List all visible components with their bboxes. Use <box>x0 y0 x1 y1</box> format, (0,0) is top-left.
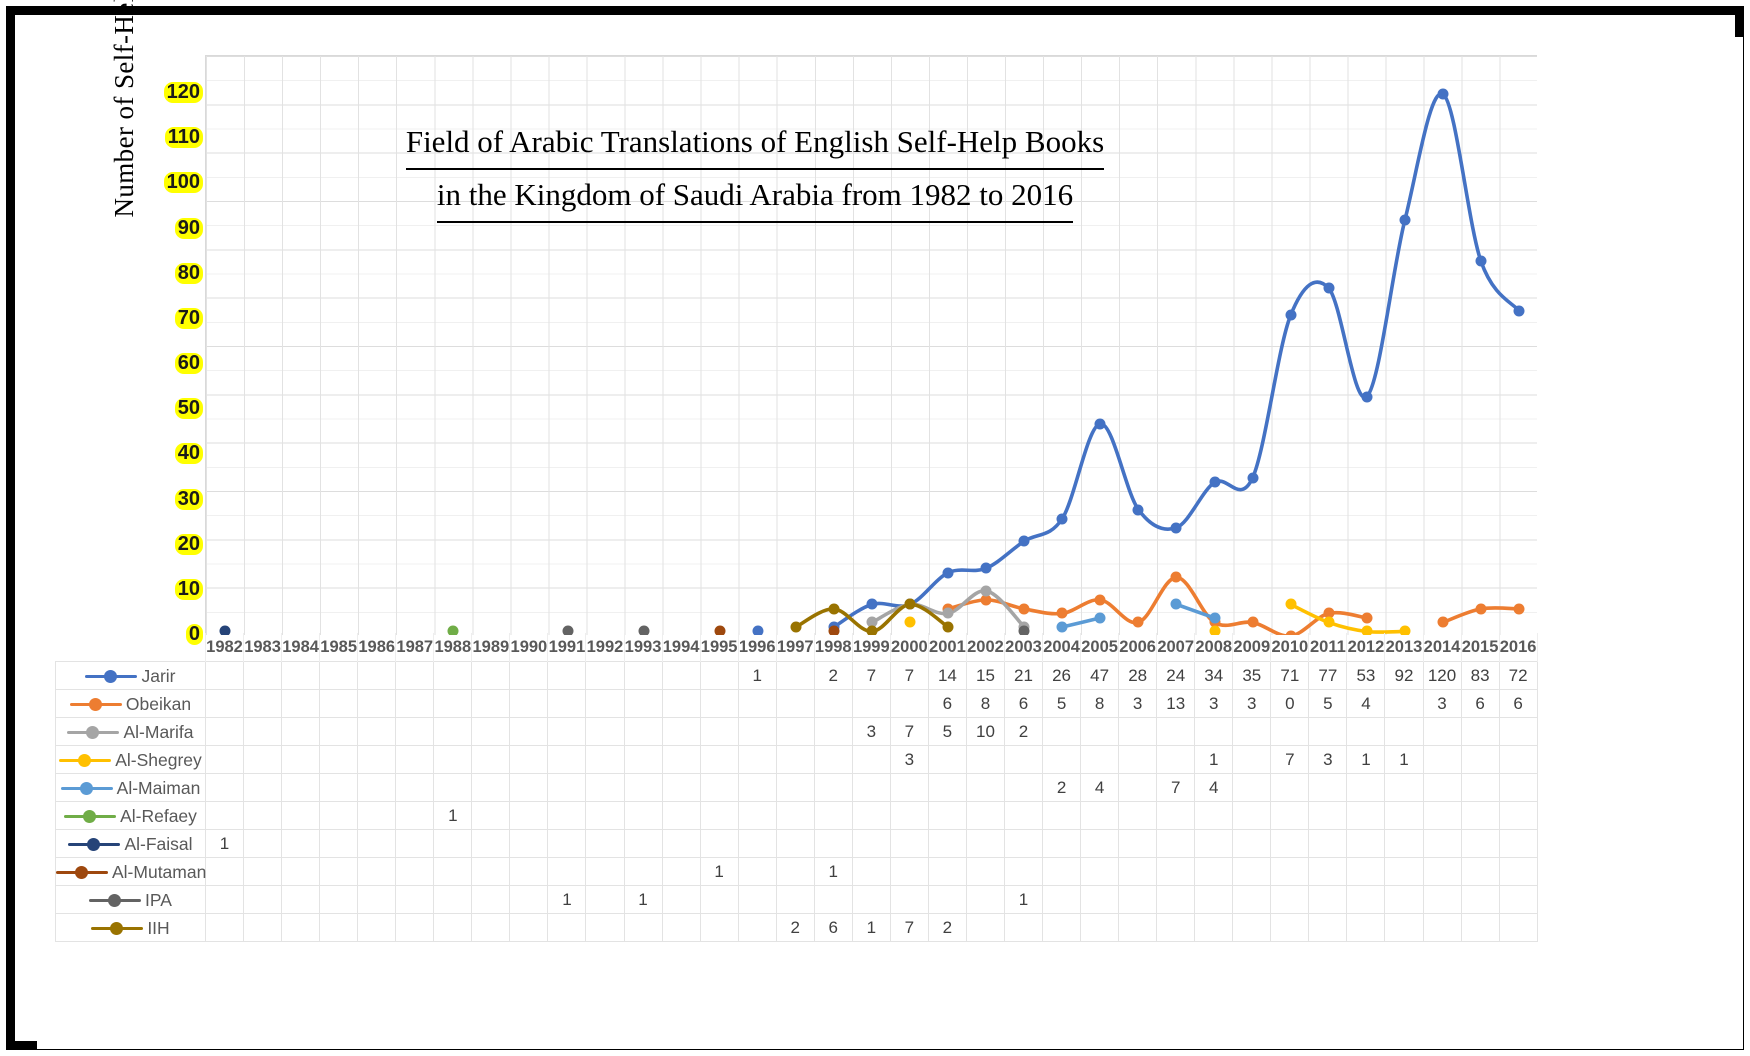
y-tick-40: 40 <box>175 443 203 464</box>
cell-ipa-1987 <box>396 886 434 914</box>
cell-al-marifa-2015 <box>1461 718 1499 746</box>
cell-obeikan-1989 <box>472 690 510 718</box>
cell-al-marifa-1998 <box>814 718 852 746</box>
y-tick-60: 60 <box>175 353 203 374</box>
legend-label: Al-Marifa <box>123 721 193 741</box>
cell-al-marifa-1995 <box>700 718 738 746</box>
point-jarir-2016 <box>1513 305 1524 316</box>
cell-al-mutaman-2016 <box>1499 858 1537 886</box>
year-header-2015: 2015 <box>1461 633 1499 662</box>
cell-iih-1993 <box>624 914 662 942</box>
cell-ipa-1996 <box>738 886 776 914</box>
y-tick-110: 110 <box>165 127 203 148</box>
cell-obeikan-2001: 6 <box>928 690 966 718</box>
cell-al-marifa-2012 <box>1347 718 1385 746</box>
cell-iih-2006 <box>1119 914 1157 942</box>
cell-al-refaey-2013 <box>1385 802 1423 830</box>
legend-item-obeikan[interactable]: Obeikan <box>56 690 206 718</box>
legend-label: Al-Shegrey <box>115 749 202 769</box>
cell-al-shegrey-1995 <box>700 746 738 774</box>
cell-jarir-1982 <box>206 662 244 690</box>
legend-item-al-maiman[interactable]: Al-Maiman <box>56 774 206 802</box>
point-al-marifa-2001 <box>943 608 954 619</box>
cell-al-refaey-1989 <box>472 802 510 830</box>
cell-al-faisal-1990 <box>510 830 548 858</box>
cell-iih-1998: 6 <box>814 914 852 942</box>
cell-al-mutaman-1990 <box>510 858 548 886</box>
cell-al-refaey-1983 <box>244 802 282 830</box>
cell-jarir-1995 <box>700 662 738 690</box>
cell-al-marifa-1985 <box>320 718 358 746</box>
cell-jarir-2003: 21 <box>1004 662 1042 690</box>
cell-al-marifa-2006 <box>1119 718 1157 746</box>
table-row: Al-Maiman2474 <box>56 774 1538 802</box>
cell-al-faisal-2008 <box>1195 830 1233 858</box>
cell-al-shegrey-2008: 1 <box>1195 746 1233 774</box>
point-iih-1997 <box>790 621 801 632</box>
legend-item-al-refaey[interactable]: Al-Refaey <box>56 802 206 830</box>
legend-item-al-mutaman[interactable]: Al-Mutaman <box>56 858 206 886</box>
legend-item-ipa[interactable]: IPA <box>56 886 206 914</box>
cell-obeikan-2005: 8 <box>1081 690 1119 718</box>
y-tick-120: 120 <box>164 82 203 103</box>
cell-al-shegrey-1989 <box>472 746 510 774</box>
cell-al-maiman-2015 <box>1461 774 1499 802</box>
cell-al-refaey-1991 <box>548 802 586 830</box>
cell-al-marifa-2008 <box>1195 718 1233 746</box>
cell-al-shegrey-2003 <box>1004 746 1042 774</box>
cell-ipa-2016 <box>1499 886 1537 914</box>
point-jarir-2012 <box>1361 391 1372 402</box>
cell-al-mutaman-1996 <box>738 858 776 886</box>
cell-al-mutaman-1982 <box>206 858 244 886</box>
cell-obeikan-2016: 6 <box>1499 690 1537 718</box>
cell-obeikan-1985 <box>320 690 358 718</box>
cell-iih-2013 <box>1385 914 1423 942</box>
cell-iih-1986 <box>358 914 396 942</box>
point-obeikan-2007 <box>1171 572 1182 583</box>
cell-iih-1982 <box>206 914 244 942</box>
year-header-2009: 2009 <box>1233 633 1271 662</box>
cell-al-shegrey-2001 <box>928 746 966 774</box>
cell-al-faisal-2012 <box>1347 830 1385 858</box>
cell-jarir-1999: 7 <box>852 662 890 690</box>
year-header-1998: 1998 <box>814 633 852 662</box>
cell-al-refaey-1993 <box>624 802 662 830</box>
cell-al-mutaman-1998: 1 <box>814 858 852 886</box>
legend-item-iih[interactable]: IIH <box>56 914 206 942</box>
cell-jarir-2001: 14 <box>928 662 966 690</box>
year-header-1996: 1996 <box>738 633 776 662</box>
cell-jarir-1984 <box>282 662 320 690</box>
cell-al-mutaman-2015 <box>1461 858 1499 886</box>
cell-al-faisal-1984 <box>282 830 320 858</box>
y-tick-10: 10 <box>175 579 203 600</box>
cell-al-maiman-1990 <box>510 774 548 802</box>
cell-al-maiman-2006 <box>1119 774 1157 802</box>
cell-al-refaey-2004 <box>1043 802 1081 830</box>
cell-ipa-1993: 1 <box>624 886 662 914</box>
legend-label: Al-Maiman <box>117 777 201 797</box>
cell-al-faisal-1986 <box>358 830 396 858</box>
cell-al-refaey-2002 <box>966 802 1004 830</box>
cell-jarir-1996: 1 <box>738 662 776 690</box>
table-row: Al-Mutaman11 <box>56 858 1538 886</box>
cell-al-refaey-1998 <box>814 802 852 830</box>
cell-obeikan-1990 <box>510 690 548 718</box>
cell-iih-1994 <box>662 914 700 942</box>
cell-iih-2009 <box>1233 914 1271 942</box>
cell-jarir-2000: 7 <box>890 662 928 690</box>
cell-al-faisal-2002 <box>966 830 1004 858</box>
cell-al-shegrey-2016 <box>1499 746 1537 774</box>
cell-al-faisal-1985 <box>320 830 358 858</box>
cell-al-shegrey-1982 <box>206 746 244 774</box>
cell-ipa-1991: 1 <box>548 886 586 914</box>
cell-al-maiman-2009 <box>1233 774 1271 802</box>
point-obeikan-2012 <box>1361 612 1372 623</box>
cell-obeikan-1992 <box>586 690 624 718</box>
legend-marker-icon <box>64 809 116 823</box>
point-jarir-2005 <box>1095 418 1106 429</box>
cell-ipa-1998 <box>814 886 852 914</box>
cell-al-shegrey-1985 <box>320 746 358 774</box>
legend-marker-icon <box>91 921 143 935</box>
legend-label: Obeikan <box>126 693 191 713</box>
cell-ipa-1984 <box>282 886 320 914</box>
cell-al-maiman-1998 <box>814 774 852 802</box>
cell-al-mutaman-1999 <box>852 858 890 886</box>
cell-ipa-2009 <box>1233 886 1271 914</box>
cell-iih-1988 <box>434 914 472 942</box>
cell-al-marifa-2009 <box>1233 718 1271 746</box>
year-header-2001: 2001 <box>928 633 966 662</box>
cell-al-mutaman-2006 <box>1119 858 1157 886</box>
legend-marker-icon <box>89 893 141 907</box>
table-row: IIH26172 <box>56 914 1538 942</box>
cell-al-marifa-2011 <box>1309 718 1347 746</box>
cell-al-mutaman-2003 <box>1004 858 1042 886</box>
legend-label: Al-Refaey <box>120 805 197 825</box>
cell-ipa-1994 <box>662 886 700 914</box>
cell-al-maiman-2003 <box>1004 774 1042 802</box>
cell-al-marifa-2002: 10 <box>966 718 1004 746</box>
cell-al-shegrey-2006 <box>1119 746 1157 774</box>
cell-al-refaey-2008 <box>1195 802 1233 830</box>
cell-al-shegrey-2004 <box>1043 746 1081 774</box>
cell-al-mutaman-2000 <box>890 858 928 886</box>
cell-al-refaey-1982 <box>206 802 244 830</box>
cell-al-mutaman-2009 <box>1233 858 1271 886</box>
cell-jarir-1998: 2 <box>814 662 852 690</box>
point-al-maiman-2005 <box>1095 612 1106 623</box>
cell-obeikan-2000 <box>890 690 928 718</box>
year-header-1984: 1984 <box>282 633 320 662</box>
cell-al-mutaman-1994 <box>662 858 700 886</box>
year-header-2008: 2008 <box>1195 633 1233 662</box>
legend-data-table: 1982198319841985198619871988198919901991… <box>55 633 1537 942</box>
cell-al-refaey-2009 <box>1233 802 1271 830</box>
cell-al-shegrey-2012: 1 <box>1347 746 1385 774</box>
cell-iih-2011 <box>1309 914 1347 942</box>
table-row: Al-Faisal1 <box>56 830 1538 858</box>
cell-ipa-2001 <box>928 886 966 914</box>
point-al-shegrey-2011 <box>1323 617 1334 628</box>
point-jarir-2009 <box>1247 472 1258 483</box>
cell-al-refaey-2014 <box>1423 802 1461 830</box>
cell-al-maiman-2007: 7 <box>1157 774 1195 802</box>
cell-iih-1992 <box>586 914 624 942</box>
cell-ipa-1986 <box>358 886 396 914</box>
legend-item-al-marifa[interactable]: Al-Marifa <box>56 718 206 746</box>
cell-iih-2012 <box>1347 914 1385 942</box>
point-obeikan-2004 <box>1057 608 1068 619</box>
cell-jarir-1988 <box>434 662 472 690</box>
point-iih-1998 <box>828 603 839 614</box>
cell-iih-2004 <box>1043 914 1081 942</box>
cell-al-refaey-2010 <box>1271 802 1309 830</box>
cell-al-refaey-1996 <box>738 802 776 830</box>
cell-al-faisal-1988 <box>434 830 472 858</box>
year-header-1991: 1991 <box>548 633 586 662</box>
year-header-1999: 1999 <box>852 633 890 662</box>
y-tick-100: 100 <box>164 172 203 193</box>
cell-iih-1989 <box>472 914 510 942</box>
cell-obeikan-2003: 6 <box>1004 690 1042 718</box>
cell-al-maiman-2001 <box>928 774 966 802</box>
point-al-maiman-2008 <box>1209 612 1220 623</box>
cell-al-faisal-2016 <box>1499 830 1537 858</box>
cell-al-mutaman-2011 <box>1309 858 1347 886</box>
cell-al-faisal-1994 <box>662 830 700 858</box>
year-header-2002: 2002 <box>966 633 1004 662</box>
cell-al-marifa-1982 <box>206 718 244 746</box>
cell-al-refaey-2015 <box>1461 802 1499 830</box>
cell-iih-1997: 2 <box>776 914 814 942</box>
cell-al-maiman-1999 <box>852 774 890 802</box>
legend-marker-icon <box>59 753 111 767</box>
cell-al-shegrey-1992 <box>586 746 624 774</box>
cell-ipa-1990 <box>510 886 548 914</box>
cell-al-marifa-1997 <box>776 718 814 746</box>
cell-al-refaey-2007 <box>1157 802 1195 830</box>
point-al-shegrey-2000 <box>905 617 916 628</box>
point-obeikan-2016 <box>1513 603 1524 614</box>
cell-al-shegrey-1983 <box>244 746 282 774</box>
cell-iih-2001: 2 <box>928 914 966 942</box>
cell-jarir-2005: 47 <box>1081 662 1119 690</box>
cell-al-shegrey-1993 <box>624 746 662 774</box>
cell-al-maiman-1988 <box>434 774 472 802</box>
cell-obeikan-1983 <box>244 690 282 718</box>
cell-iih-1990 <box>510 914 548 942</box>
cell-ipa-2008 <box>1195 886 1233 914</box>
cell-ipa-2004 <box>1043 886 1081 914</box>
cell-al-mutaman-1993 <box>624 858 662 886</box>
cell-jarir-1985 <box>320 662 358 690</box>
cell-obeikan-1987 <box>396 690 434 718</box>
year-header-1987: 1987 <box>396 633 434 662</box>
cell-jarir-2011: 77 <box>1309 662 1347 690</box>
legend-marker-icon <box>85 669 137 683</box>
cell-ipa-1985 <box>320 886 358 914</box>
cell-jarir-2006: 28 <box>1119 662 1157 690</box>
legend-label: Al-Mutaman <box>112 861 206 881</box>
cell-jarir-1983 <box>244 662 282 690</box>
legend-item-jarir[interactable]: Jarir <box>56 662 206 690</box>
cell-al-faisal-2007 <box>1157 830 1195 858</box>
cell-al-faisal-1999 <box>852 830 890 858</box>
cell-al-maiman-1982 <box>206 774 244 802</box>
legend-item-al-faisal[interactable]: Al-Faisal <box>56 830 206 858</box>
table-corner-cell <box>56 633 206 662</box>
cell-al-faisal-1993 <box>624 830 662 858</box>
cell-al-marifa-1994 <box>662 718 700 746</box>
cell-al-refaey-1985 <box>320 802 358 830</box>
cell-al-shegrey-2007 <box>1157 746 1195 774</box>
cell-al-maiman-2004: 2 <box>1043 774 1081 802</box>
cell-al-maiman-2013 <box>1385 774 1423 802</box>
legend-label: Al-Faisal <box>124 833 192 853</box>
point-jarir-2010 <box>1285 310 1296 321</box>
cell-al-refaey-1986 <box>358 802 396 830</box>
cell-al-mutaman-1983 <box>244 858 282 886</box>
y-tick-50: 50 <box>175 398 203 419</box>
cell-al-shegrey-2011: 3 <box>1309 746 1347 774</box>
cell-iih-2002 <box>966 914 1004 942</box>
cell-al-faisal-2013 <box>1385 830 1423 858</box>
cell-al-refaey-1995 <box>700 802 738 830</box>
cell-al-refaey-2001 <box>928 802 966 830</box>
cell-al-faisal-2000 <box>890 830 928 858</box>
cell-ipa-2002 <box>966 886 1004 914</box>
cell-al-faisal-2003 <box>1004 830 1042 858</box>
cell-al-faisal-2009 <box>1233 830 1271 858</box>
cell-al-shegrey-1986 <box>358 746 396 774</box>
year-header-1992: 1992 <box>586 633 624 662</box>
cell-al-mutaman-2014 <box>1423 858 1461 886</box>
year-header-1989: 1989 <box>472 633 510 662</box>
cell-ipa-1999 <box>852 886 890 914</box>
cell-al-faisal-2014 <box>1423 830 1461 858</box>
point-al-maiman-2004 <box>1057 621 1068 632</box>
cell-jarir-1987 <box>396 662 434 690</box>
cell-al-shegrey-2000: 3 <box>890 746 928 774</box>
year-header-2000: 2000 <box>890 633 928 662</box>
cell-al-refaey-2016 <box>1499 802 1537 830</box>
legend-item-al-shegrey[interactable]: Al-Shegrey <box>56 746 206 774</box>
cell-al-mutaman-2002 <box>966 858 1004 886</box>
cell-iih-1999: 1 <box>852 914 890 942</box>
year-header-2012: 2012 <box>1347 633 1385 662</box>
cell-jarir-2012: 53 <box>1347 662 1385 690</box>
cell-al-faisal-1987 <box>396 830 434 858</box>
cell-obeikan-2009: 3 <box>1233 690 1271 718</box>
table-row: IPA111 <box>56 886 1538 914</box>
point-obeikan-2005 <box>1095 594 1106 605</box>
cell-al-faisal-2004 <box>1043 830 1081 858</box>
cell-obeikan-2004: 5 <box>1043 690 1081 718</box>
cell-al-mutaman-1988 <box>434 858 472 886</box>
cell-al-shegrey-1988 <box>434 746 472 774</box>
point-obeikan-2009 <box>1247 617 1258 628</box>
cell-obeikan-1984 <box>282 690 320 718</box>
cell-jarir-2016: 72 <box>1499 662 1537 690</box>
cell-al-shegrey-1998 <box>814 746 852 774</box>
cell-al-maiman-1984 <box>282 774 320 802</box>
cell-al-shegrey-1987 <box>396 746 434 774</box>
cell-al-faisal-2001 <box>928 830 966 858</box>
cell-al-mutaman-1995: 1 <box>700 858 738 886</box>
point-al-maiman-2007 <box>1171 599 1182 610</box>
cell-al-faisal-1997 <box>776 830 814 858</box>
point-jarir-2002 <box>981 563 992 574</box>
cell-obeikan-1995 <box>700 690 738 718</box>
cell-al-maiman-2014 <box>1423 774 1461 802</box>
cell-obeikan-2008: 3 <box>1195 690 1233 718</box>
cell-jarir-2014: 120 <box>1423 662 1461 690</box>
cell-iih-1996 <box>738 914 776 942</box>
cell-al-refaey-2000 <box>890 802 928 830</box>
cell-ipa-2014 <box>1423 886 1461 914</box>
line-jarir <box>834 94 1519 627</box>
cell-obeikan-2014: 3 <box>1423 690 1461 718</box>
cell-al-marifa-2016 <box>1499 718 1537 746</box>
year-header-1985: 1985 <box>320 633 358 662</box>
cell-al-maiman-1994 <box>662 774 700 802</box>
cell-al-shegrey-2009 <box>1233 746 1271 774</box>
cell-jarir-1994 <box>662 662 700 690</box>
point-jarir-2003 <box>1019 536 1030 547</box>
cell-al-shegrey-1997 <box>776 746 814 774</box>
cell-ipa-2015 <box>1461 886 1499 914</box>
legend-marker-icon <box>67 725 119 739</box>
screenshot-frame: Number of Self-Help Translations 1201101… <box>0 0 1750 1056</box>
year-header-2006: 2006 <box>1119 633 1157 662</box>
cell-obeikan-1996 <box>738 690 776 718</box>
point-al-shegrey-2010 <box>1285 599 1296 610</box>
point-jarir-2014 <box>1437 89 1448 100</box>
cell-al-mutaman-2004 <box>1043 858 1081 886</box>
point-jarir-1999 <box>867 599 878 610</box>
point-obeikan-2015 <box>1475 603 1486 614</box>
year-header-1982: 1982 <box>206 633 244 662</box>
cell-iih-1985 <box>320 914 358 942</box>
cell-jarir-1986 <box>358 662 396 690</box>
cell-ipa-2000 <box>890 886 928 914</box>
y-tick-80: 80 <box>175 263 203 284</box>
year-header-1994: 1994 <box>662 633 700 662</box>
cell-jarir-2015: 83 <box>1461 662 1499 690</box>
cell-al-faisal-2006 <box>1119 830 1157 858</box>
year-header-2013: 2013 <box>1385 633 1423 662</box>
cell-ipa-2005 <box>1081 886 1119 914</box>
cell-al-shegrey-2010: 7 <box>1271 746 1309 774</box>
cell-jarir-1992 <box>586 662 624 690</box>
year-header-2007: 2007 <box>1157 633 1195 662</box>
cell-jarir-2002: 15 <box>966 662 1004 690</box>
plot-area <box>205 55 1537 635</box>
cell-al-maiman-1995 <box>700 774 738 802</box>
cell-al-maiman-2011 <box>1309 774 1347 802</box>
cell-al-marifa-1989 <box>472 718 510 746</box>
cell-ipa-2012 <box>1347 886 1385 914</box>
cell-al-marifa-1993 <box>624 718 662 746</box>
cell-al-faisal-2015 <box>1461 830 1499 858</box>
cell-al-refaey-1992 <box>586 802 624 830</box>
cell-iih-2014 <box>1423 914 1461 942</box>
cell-obeikan-2006: 3 <box>1119 690 1157 718</box>
